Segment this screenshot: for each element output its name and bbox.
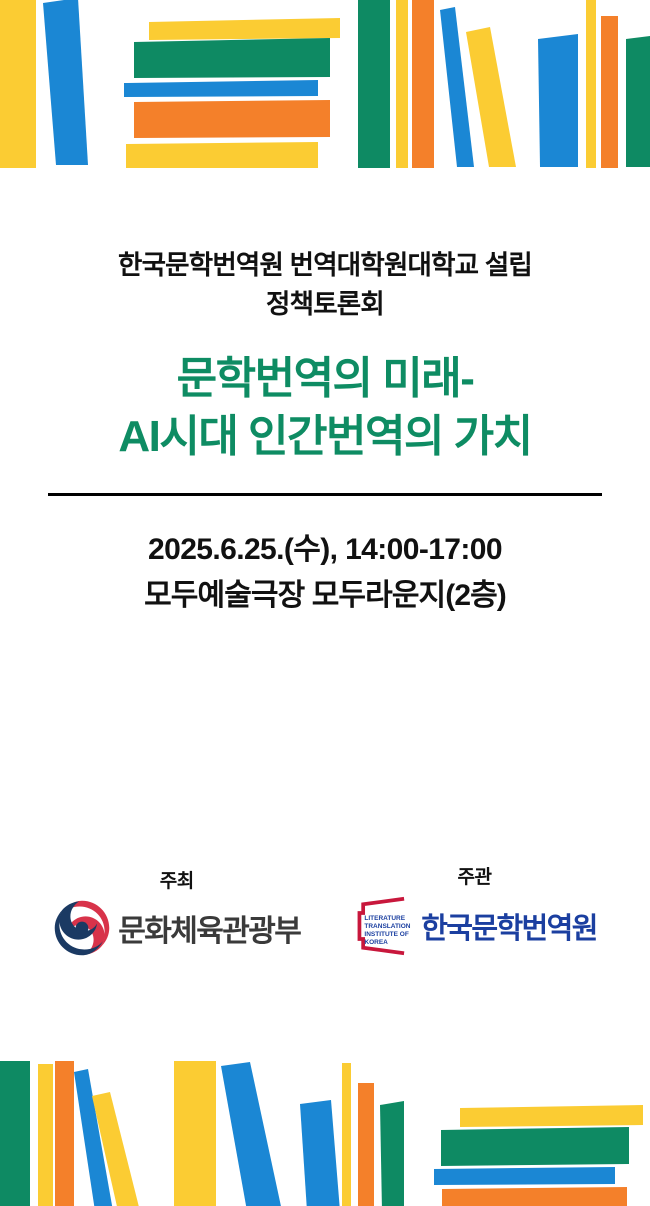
book-orange-b1 <box>55 1061 74 1206</box>
book-orange-1 <box>412 0 434 168</box>
book-green-b1 <box>0 1061 30 1206</box>
credit-host-label: 주최 <box>160 866 194 893</box>
lti-mark-line-3: INSTITUTE OF <box>365 931 409 938</box>
book-yellow-b3 <box>342 1063 351 1206</box>
credit-organizer: 주관 LITERATURE TRANSLATION INSTITUTE OF K… <box>352 862 597 957</box>
book-stack-b-yellow-top <box>460 1105 643 1127</box>
credit-organizer-body: LITERATURE TRANSLATION INSTITUTE OF KORE… <box>352 895 597 957</box>
lti-mark-line-2: TRANSLATION <box>365 923 411 930</box>
event-subtitle-line-2: 정책토론회 <box>45 285 605 324</box>
bookshelf-illustration-top <box>0 0 650 170</box>
bookshelf-illustration-bottom <box>0 1036 650 1206</box>
book-green-3 <box>626 35 650 167</box>
event-title: 문학번역의 미래- AI시대 인간번역의 가치 <box>25 350 625 464</box>
event-title-line-1: 문학번역의 미래- <box>25 350 625 407</box>
credits-row: 주최 문화체육관광부 주관 <box>0 862 650 957</box>
book-blue-tilt-b3 <box>300 1100 340 1206</box>
book-green-b2 <box>380 1101 404 1206</box>
book-yellow-b1 <box>38 1064 53 1206</box>
book-stack-yellow-top <box>149 18 340 40</box>
event-subtitle: 한국문학번역원 번역대학원대학교 설립 정책토론회 <box>45 246 605 324</box>
credit-host: 주최 문화체육관광부 <box>53 866 300 957</box>
book-yellow-3 <box>586 0 596 168</box>
book-stack-b-blue <box>434 1167 615 1185</box>
book-green-2 <box>358 0 390 168</box>
book-yellow-tilt-1 <box>466 27 516 167</box>
book-orange-2 <box>601 16 618 168</box>
event-title-line-2: AI시대 인간번역의 가치 <box>25 408 625 465</box>
book-blue-tilt-1 <box>43 0 88 165</box>
divider-rule <box>48 493 602 496</box>
event-datetime: 2025.6.25.(수), 14:00-17:00 <box>148 529 502 572</box>
credit-organizer-org: 한국문학번역원 <box>421 905 597 947</box>
event-subtitle-line-1: 한국문학번역원 번역대학원대학교 설립 <box>45 246 605 285</box>
book-yellow-2 <box>396 0 408 168</box>
credit-host-body: 문화체육관광부 <box>53 899 300 957</box>
book-blue-tilt-2 <box>440 7 474 167</box>
book-stack-yellow-bottom <box>126 142 318 168</box>
book-yellow-1 <box>0 0 36 168</box>
book-stack-green <box>134 38 330 78</box>
book-orange-b2 <box>358 1083 374 1206</box>
book-stack-b-orange <box>442 1187 627 1206</box>
credit-host-org: 문화체육관광부 <box>118 906 300 950</box>
book-stack-b-green <box>441 1127 629 1166</box>
book-yellow-b2 <box>174 1061 216 1206</box>
book-blue-3 <box>538 34 578 167</box>
event-venue: 모두예술극장 모두라운지(2층) <box>144 575 506 618</box>
book-stack-orange <box>134 100 330 138</box>
lti-mark-line-1: LITERATURE <box>365 915 406 922</box>
book-stack-blue <box>124 80 318 97</box>
lti-mark-line-4: KOREA <box>365 939 389 946</box>
event-poster: 한국문학번역원 번역대학원대학교 설립 정책토론회 문학번역의 미래- AI시대… <box>0 0 650 1206</box>
taegeuk-center-dot <box>76 922 89 935</box>
taegeuk-government-emblem-icon <box>53 899 111 957</box>
lti-korea-emblem-icon: LITERATURE TRANSLATION INSTITUTE OF KORE… <box>352 895 414 957</box>
credit-organizer-label: 주관 <box>458 862 492 889</box>
book-blue-tilt-b2 <box>221 1062 282 1206</box>
